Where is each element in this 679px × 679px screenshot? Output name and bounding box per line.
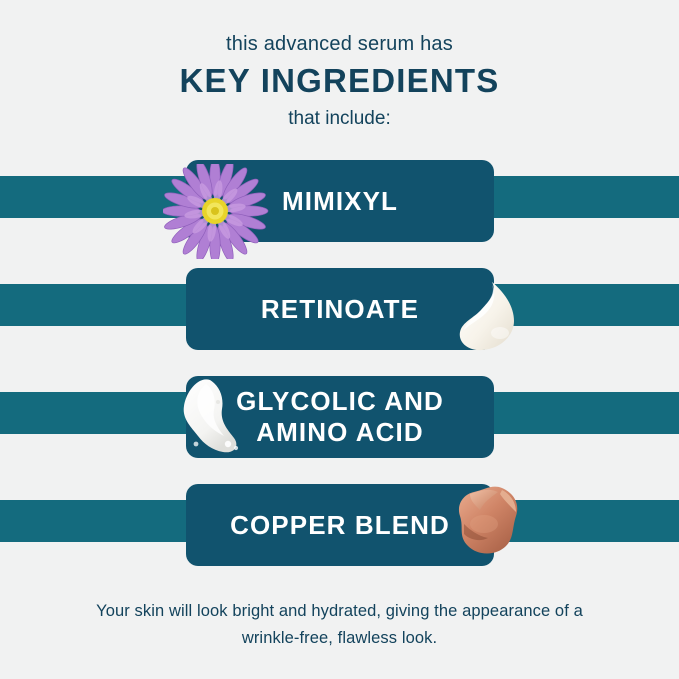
footer-line-1: Your skin will look bright and hydrated,…: [0, 598, 679, 625]
ingredient-label-retinoate: RETINOATE: [235, 294, 445, 325]
footer-line-2: wrinkle-free, flawless look.: [0, 625, 679, 652]
headline-block: this advanced serum has KEY INGREDIENTS …: [0, 30, 679, 133]
ingredient-label-mimixyl: MIMIXYL: [256, 186, 424, 217]
ingredient-label-line-1: GLYCOLIC AND: [236, 386, 444, 417]
footer-text: Your skin will look bright and hydrated,…: [0, 598, 679, 652]
purple-daisy-flower-icon: [163, 164, 273, 259]
headline-line-2: KEY INGREDIENTS: [0, 60, 679, 102]
cream-dollop-icon: [448, 278, 523, 356]
infographic-canvas: this advanced serum has KEY INGREDIENTS …: [0, 0, 679, 679]
copper-nugget-icon: [440, 480, 532, 566]
white-foam-swatch-icon: [176, 378, 262, 460]
ingredient-label-line-2: AMINO ACID: [236, 417, 444, 448]
ingredient-label-copper-blend: COPPER BLEND: [204, 510, 476, 541]
headline-line-3: that include:: [0, 105, 679, 133]
headline-line-1: this advanced serum has: [0, 30, 679, 58]
